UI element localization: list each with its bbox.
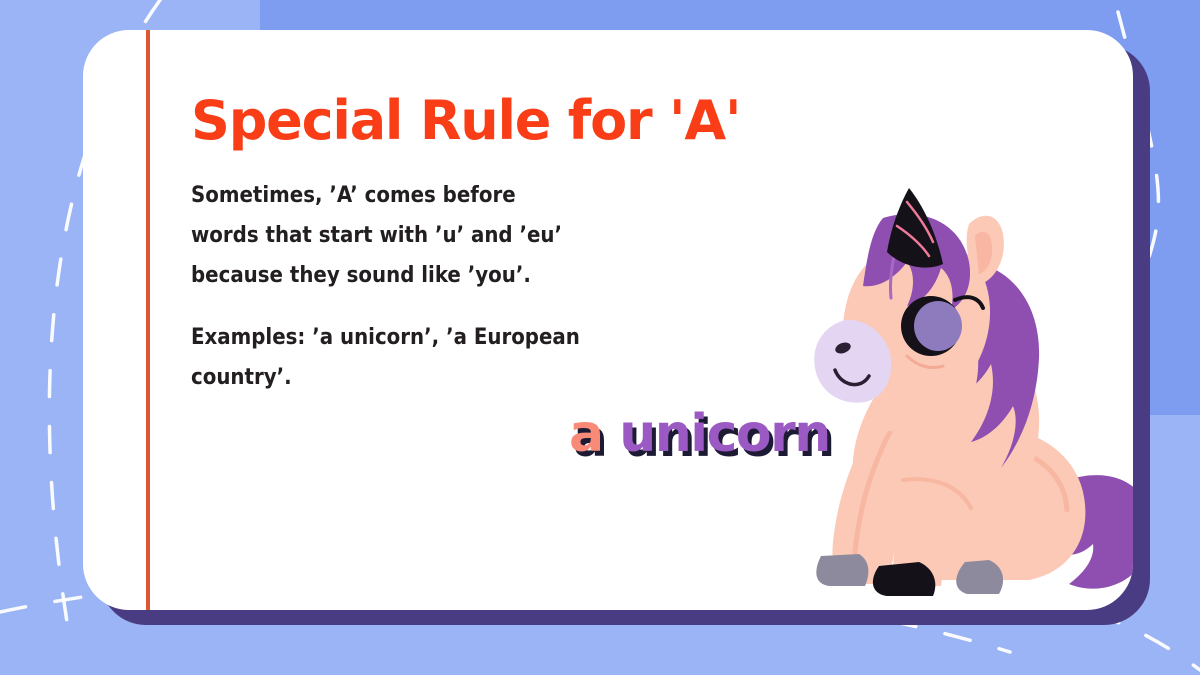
content-card: Special Rule for 'A' Sometimes, ’A’ come… [83, 30, 1133, 610]
slide-canvas: Special Rule for 'A' Sometimes, ’A’ come… [0, 0, 1200, 675]
page-title: Special Rule for 'A' [191, 92, 811, 150]
unicorn-illustration [783, 180, 1133, 610]
unicorn-hoof-grey-1 [816, 554, 868, 586]
text-content: Special Rule for 'A' Sometimes, ’A’ come… [191, 92, 811, 420]
orange-accent-line [146, 30, 150, 610]
body-paragraph-2: Examples: ’a unicorn’, ’a European count… [191, 318, 581, 398]
body-paragraph-1: Sometimes, ’A’ comes before words that s… [191, 176, 581, 296]
unicorn-eye-iris [914, 301, 962, 351]
body-text: Sometimes, ’A’ comes before words that s… [191, 176, 581, 398]
unicorn-hoof-black [873, 562, 935, 596]
wordart-article: a [569, 404, 603, 464]
unicorn-hoof-grey-2 [956, 560, 1003, 594]
